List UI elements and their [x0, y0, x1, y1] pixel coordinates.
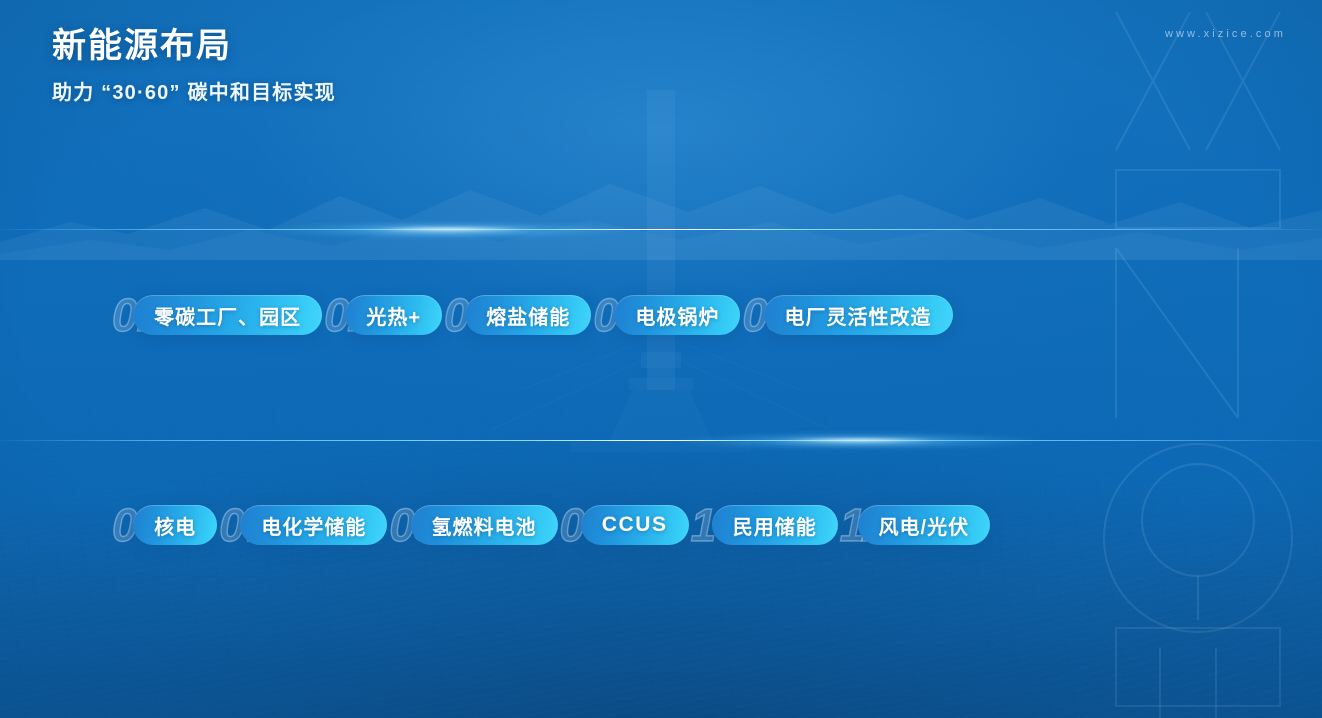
feature-pill[interactable]: 熔盐储能: [465, 295, 591, 335]
page-subtitle: 助力 “30·60” 碳中和目标实现: [52, 76, 336, 105]
feature-row-1: 01零碳工厂、园区02光热+03熔盐储能04电极锅炉05电厂灵活性改造: [112, 290, 955, 340]
feature-pill[interactable]: 电化学储能: [240, 505, 387, 545]
feature-pill-label: 核电: [154, 511, 196, 540]
feature-pill-label: 电化学储能: [261, 511, 366, 540]
divider-core: [764, 438, 954, 442]
feature-pill-label: 民用储能: [733, 511, 817, 540]
feature-pill-label: CCUS: [602, 513, 668, 537]
page-title: 新能源布局: [52, 26, 336, 67]
divider-core: [354, 227, 544, 231]
feature-pill-label: 电厂灵活性改造: [785, 301, 932, 330]
feature-pill-label: 风电/光伏: [879, 511, 970, 540]
site-watermark: www.xizice.com: [1165, 28, 1286, 40]
glow-divider-bottom: [0, 428, 1322, 454]
feature-pill[interactable]: 电厂灵活性改造: [764, 295, 953, 335]
feature-pill[interactable]: 光热+: [345, 295, 442, 335]
feature-item-10[interactable]: 10民用储能: [691, 500, 838, 550]
feature-pill-label: 零碳工厂、园区: [154, 301, 301, 330]
feature-item-02[interactable]: 02光热+: [324, 290, 442, 340]
feature-pill[interactable]: 民用储能: [712, 505, 838, 545]
feature-item-03[interactable]: 03熔盐储能: [444, 290, 591, 340]
feature-item-09[interactable]: 09CCUS: [560, 500, 689, 550]
feature-pill-label: 光热+: [366, 301, 421, 330]
background-vignette: [0, 0, 1322, 718]
feature-pill[interactable]: CCUS: [581, 505, 689, 545]
glow-divider-top: [0, 217, 1322, 243]
feature-pill[interactable]: 核电: [133, 505, 217, 545]
slide-header: 新能源布局 助力 “30·60” 碳中和目标实现: [52, 26, 336, 105]
feature-item-01[interactable]: 01零碳工厂、园区: [112, 290, 322, 340]
slide-canvas: 新能源布局 助力 “30·60” 碳中和目标实现 www.xizice.com …: [0, 0, 1322, 718]
feature-pill-label: 氢燃料电池: [432, 511, 537, 540]
feature-pill-label: 熔盐储能: [486, 301, 570, 330]
feature-item-05[interactable]: 05电厂灵活性改造: [742, 290, 952, 340]
feature-pill[interactable]: 零碳工厂、园区: [133, 295, 322, 335]
feature-item-11[interactable]: 11风电/光伏: [840, 500, 990, 550]
feature-pill[interactable]: 电极锅炉: [614, 295, 740, 335]
feature-item-06[interactable]: 06核电: [112, 500, 217, 550]
feature-pill[interactable]: 风电/光伏: [858, 505, 991, 545]
feature-pill-label: 电极锅炉: [635, 301, 719, 330]
feature-item-08[interactable]: 08氢燃料电池: [389, 500, 557, 550]
feature-row-2: 06核电07电化学储能08氢燃料电池09CCUS10民用储能11风电/光伏: [112, 500, 992, 550]
feature-item-04[interactable]: 04电极锅炉: [593, 290, 740, 340]
feature-pill[interactable]: 氢燃料电池: [411, 505, 558, 545]
feature-item-07[interactable]: 07电化学储能: [219, 500, 387, 550]
